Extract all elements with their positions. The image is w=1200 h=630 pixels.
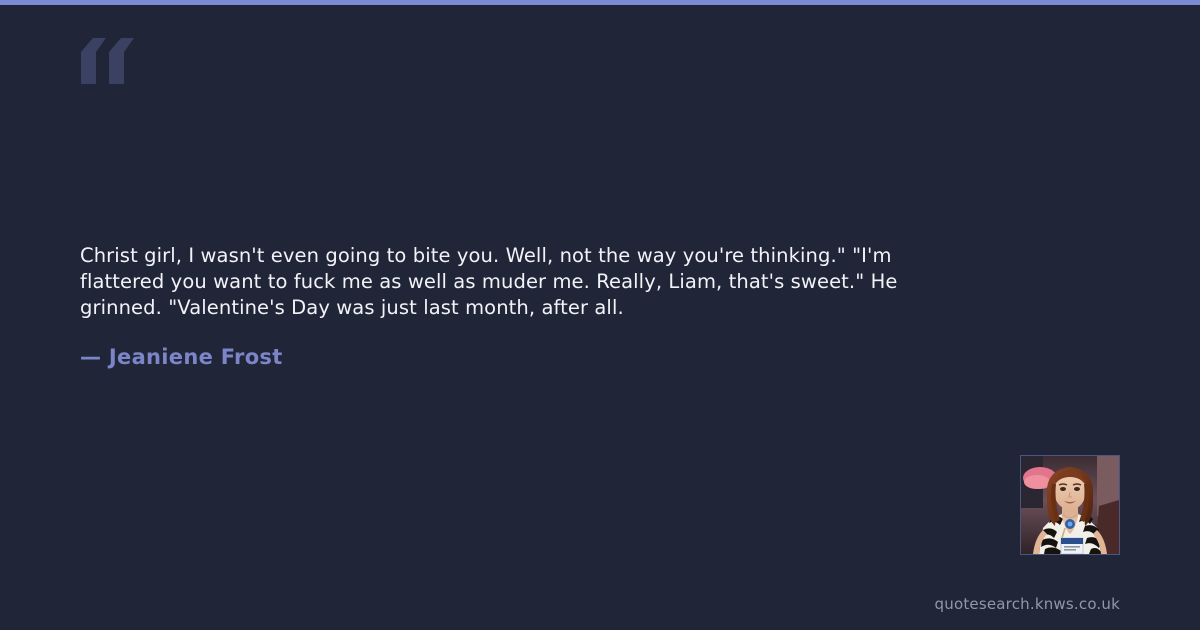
quote-card: Christ girl, I wasn't even going to bite… [0, 5, 1200, 630]
quote-text: Christ girl, I wasn't even going to bite… [80, 243, 980, 321]
quotation-mark-icon [79, 38, 139, 84]
site-url: quotesearch.knws.co.uk [935, 595, 1120, 613]
author-attribution: — Jeaniene Frost [80, 345, 283, 369]
author-photo [1020, 455, 1120, 555]
